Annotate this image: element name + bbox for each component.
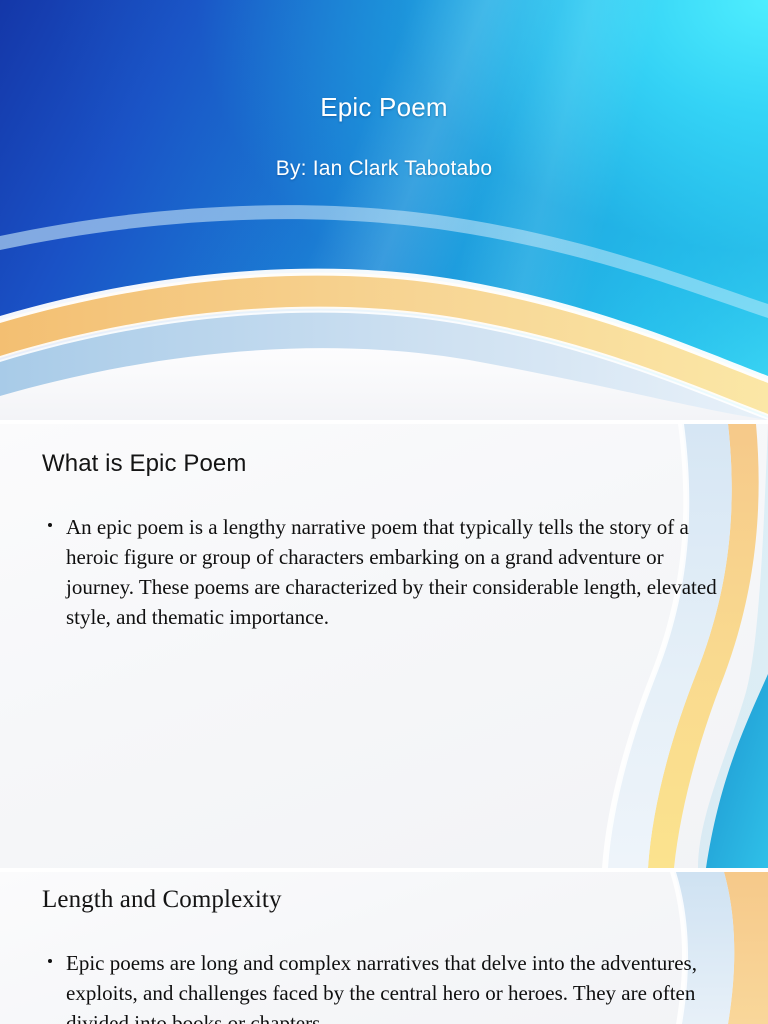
slide-3-length-and-complexity[interactable]: Length and Complexity Epic poems are lon… [0, 872, 768, 1024]
slide-2-heading: What is Epic Poem [42, 450, 246, 478]
slide-3-body: Length and Complexity Epic poems are lon… [0, 872, 768, 1024]
slide-2-body: What is Epic Poem An epic poem is a leng… [0, 424, 768, 868]
slide-1-subtitle-text: By: Ian Clark Tabotabo [0, 123, 768, 181]
slide-2-bullet-list: An epic poem is a lengthy narrative poem… [42, 512, 718, 632]
slide-1-text-block: Epic Poem By: Ian Clark Tabotabo [0, 0, 768, 181]
slide-3-heading: Length and Complexity [42, 886, 282, 914]
slide-1-title[interactable]: Epic Poem By: Ian Clark Tabotabo [0, 0, 768, 420]
list-item: Epic poems are long and complex narrativ… [42, 948, 718, 1024]
slide-2-what-is-epic-poem[interactable]: What is Epic Poem An epic poem is a leng… [0, 424, 768, 868]
slide-1-title-text: Epic Poem [0, 0, 768, 123]
slide-3-bullet-list: Epic poems are long and complex narrativ… [42, 948, 718, 1024]
list-item: An epic poem is a lengthy narrative poem… [42, 512, 718, 632]
slide-document-viewer[interactable]: Epic Poem By: Ian Clark Tabotabo [0, 0, 768, 1024]
slide-1-wave-decoration [0, 200, 768, 420]
